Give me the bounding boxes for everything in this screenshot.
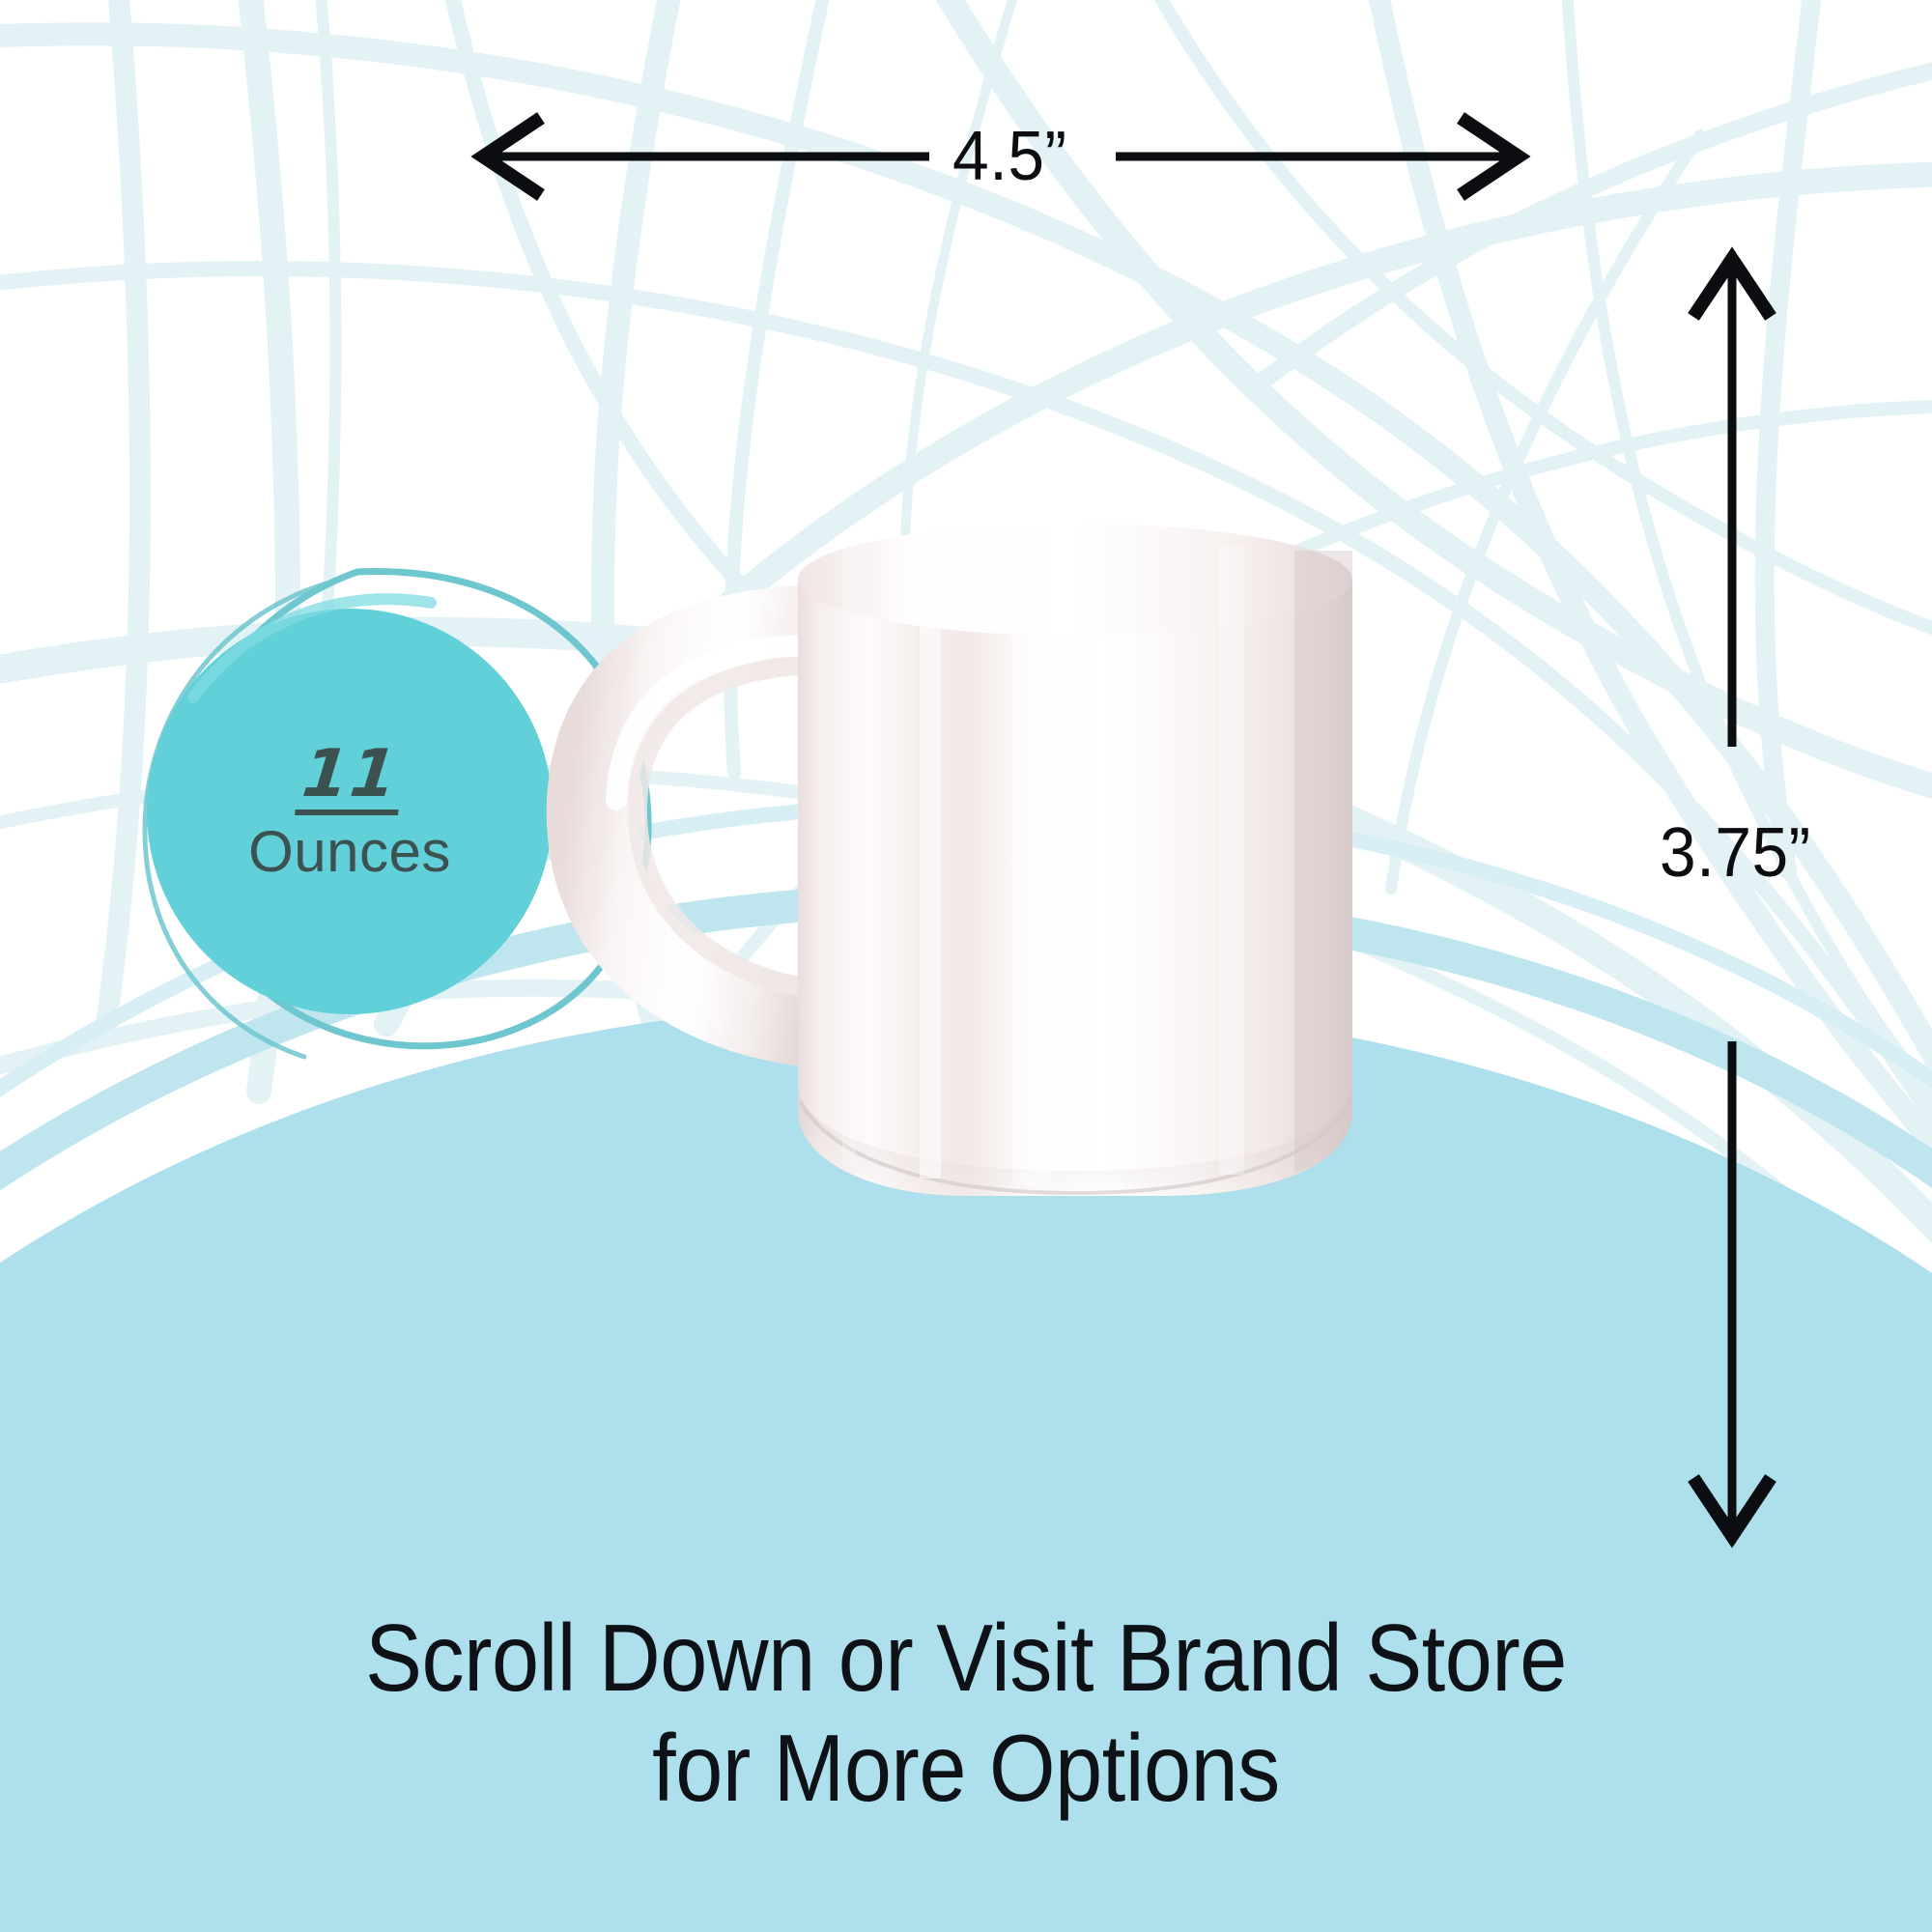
height-dimension-label: 3.75” [1660,818,1811,888]
footer-call-to-action: Scroll Down or Visit Brand Store for Mor… [0,1604,1932,1823]
footer-line-2: for More Options [97,1714,1835,1824]
width-dimension-label: 4.5” [952,122,1067,191]
footer-line-1: Scroll Down or Visit Brand Store [97,1604,1835,1714]
infographic-canvas: 11 Ounces [0,0,1932,1932]
